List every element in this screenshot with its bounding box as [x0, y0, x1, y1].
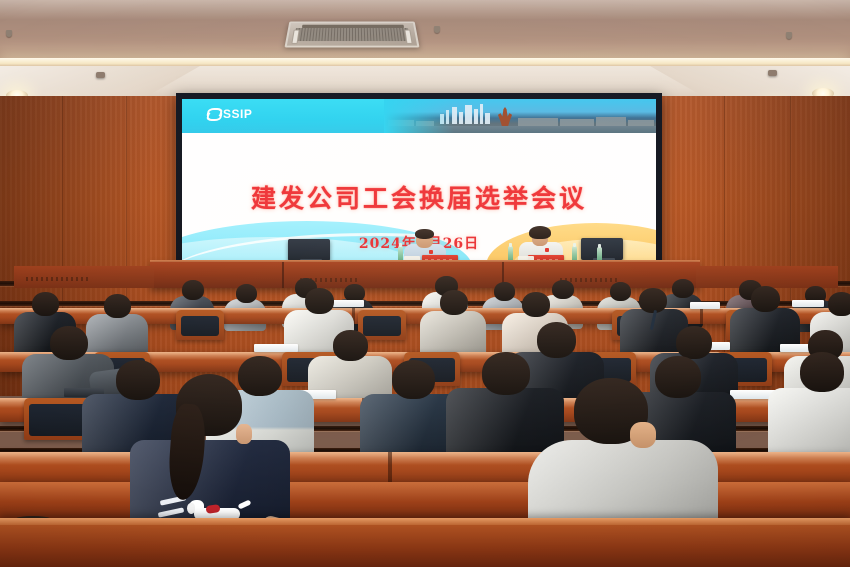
sprinkler-head-icon [786, 32, 792, 39]
cassette-air-conditioner-icon [284, 21, 419, 47]
chair [176, 310, 224, 340]
ac-vane-left [291, 30, 299, 44]
sprinkler-head-icon [6, 30, 12, 37]
attendee-head [522, 292, 550, 317]
attendee-head [116, 360, 160, 400]
chair [358, 310, 406, 340]
ac-grille [294, 28, 410, 41]
attendee-head [182, 280, 204, 300]
ceiling-speaker-icon [96, 72, 105, 78]
slide-title: 建发公司工会换届选举会议 [182, 179, 656, 215]
attendee-head [655, 356, 701, 398]
official-hair [415, 229, 434, 239]
attendee-head [610, 282, 631, 301]
official-hair [529, 226, 551, 239]
attendee-head [104, 294, 131, 318]
attendee-head [333, 330, 368, 361]
attendee-head [828, 292, 850, 316]
chair [24, 398, 90, 440]
ssip-logo: SSIP [206, 107, 252, 121]
ac-louver-bar [302, 25, 404, 28]
attendee-head [236, 284, 257, 303]
skyline-photo [384, 99, 656, 133]
attendee-neck [236, 424, 252, 444]
attendee-head [305, 288, 334, 314]
desk-front-edge [0, 518, 850, 567]
party-badge-icon [545, 248, 549, 252]
attendee-head [800, 352, 844, 392]
ssip-logo-text: SSIP [223, 107, 252, 121]
desk-front-apron [0, 482, 850, 518]
desk-paper [254, 344, 298, 352]
attendee-head [552, 280, 574, 299]
attendee-head [482, 352, 530, 395]
attendee-head [50, 326, 88, 360]
slide-banner: SSIP [182, 99, 656, 133]
desk-row-front [0, 452, 850, 484]
desk-paper [690, 302, 720, 309]
conference-room-photo: SSIP 建发公司工会换届选举会议 2024年7月26日 [0, 0, 850, 567]
party-badge-icon [429, 250, 433, 254]
attendee-head [494, 282, 515, 301]
attendee-head [639, 288, 667, 313]
head-table-extension-right [696, 266, 838, 288]
desk-paper [792, 300, 824, 307]
sprinkler-head-icon [434, 26, 440, 33]
desk-paper [330, 300, 364, 307]
attendee-head [440, 290, 468, 315]
table-vent-dots [26, 277, 88, 281]
attendee-head [676, 326, 712, 359]
ssip-s-mark-icon [206, 108, 219, 121]
banner-photo-fade [384, 99, 454, 133]
attendee-head [392, 360, 435, 399]
attendee-head [672, 279, 694, 298]
attendee-head [238, 356, 282, 396]
attendee-head [751, 286, 780, 312]
ceiling-speaker-icon [768, 70, 777, 76]
ac-vane-right [404, 30, 412, 44]
head-table-seam [282, 262, 284, 288]
attendee-head [32, 292, 59, 316]
presenter-monitor [288, 239, 330, 261]
ceiling-highlight [0, 0, 850, 20]
presenter-monitor [581, 238, 623, 260]
attendee-head [537, 322, 576, 358]
attendee-neck [630, 422, 656, 448]
desk-front-highlight [0, 518, 850, 525]
